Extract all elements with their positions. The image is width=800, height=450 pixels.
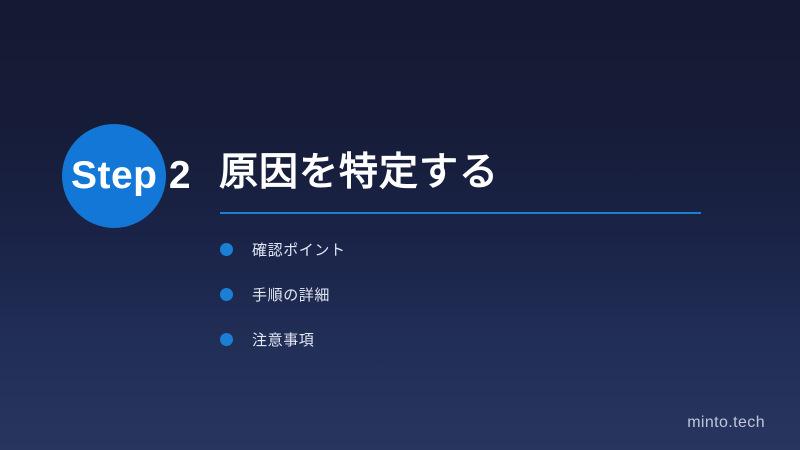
bullet-dot-icon	[220, 243, 233, 256]
bullet-dot-icon	[220, 288, 233, 301]
bullet-label: 確認ポイント	[252, 239, 346, 260]
bullet-dot-icon	[220, 333, 233, 346]
list-item: 確認ポイント	[220, 239, 346, 259]
bullet-label: 注意事項	[252, 329, 314, 350]
bullet-label: 手順の詳細	[252, 284, 330, 305]
slide-canvas: Step 2 原因を特定する 確認ポイント 手順の詳細 注意事項 minto.t…	[0, 0, 800, 450]
slide-title: 原因を特定する	[219, 148, 499, 198]
list-item: 注意事項	[220, 329, 346, 349]
bullet-list: 確認ポイント 手順の詳細 注意事項	[220, 239, 346, 349]
title-divider	[220, 212, 701, 214]
footer-brand: minto.tech	[687, 414, 765, 432]
step-label: Step 2	[46, 152, 216, 200]
list-item: 手順の詳細	[220, 284, 346, 304]
